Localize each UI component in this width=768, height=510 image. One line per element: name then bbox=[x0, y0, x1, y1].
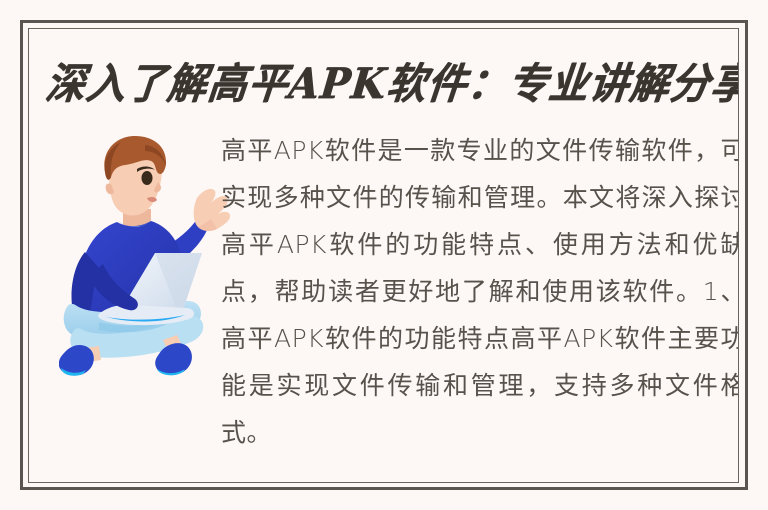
article-body: 高平APK软件是一款专业的文件传输软件，可实现多种文件的传输和管理。本文将深入探… bbox=[221, 127, 738, 457]
article-card: 深入了解高平APK软件：专业讲解分享 bbox=[0, 0, 768, 510]
page-title: 深入了解高平APK软件：专业讲解分享 bbox=[43, 54, 738, 114]
illustration-head bbox=[104, 136, 166, 233]
card-content: 深入了解高平APK软件：专业讲解分享 bbox=[29, 29, 738, 482]
hero-illustration bbox=[59, 124, 234, 379]
